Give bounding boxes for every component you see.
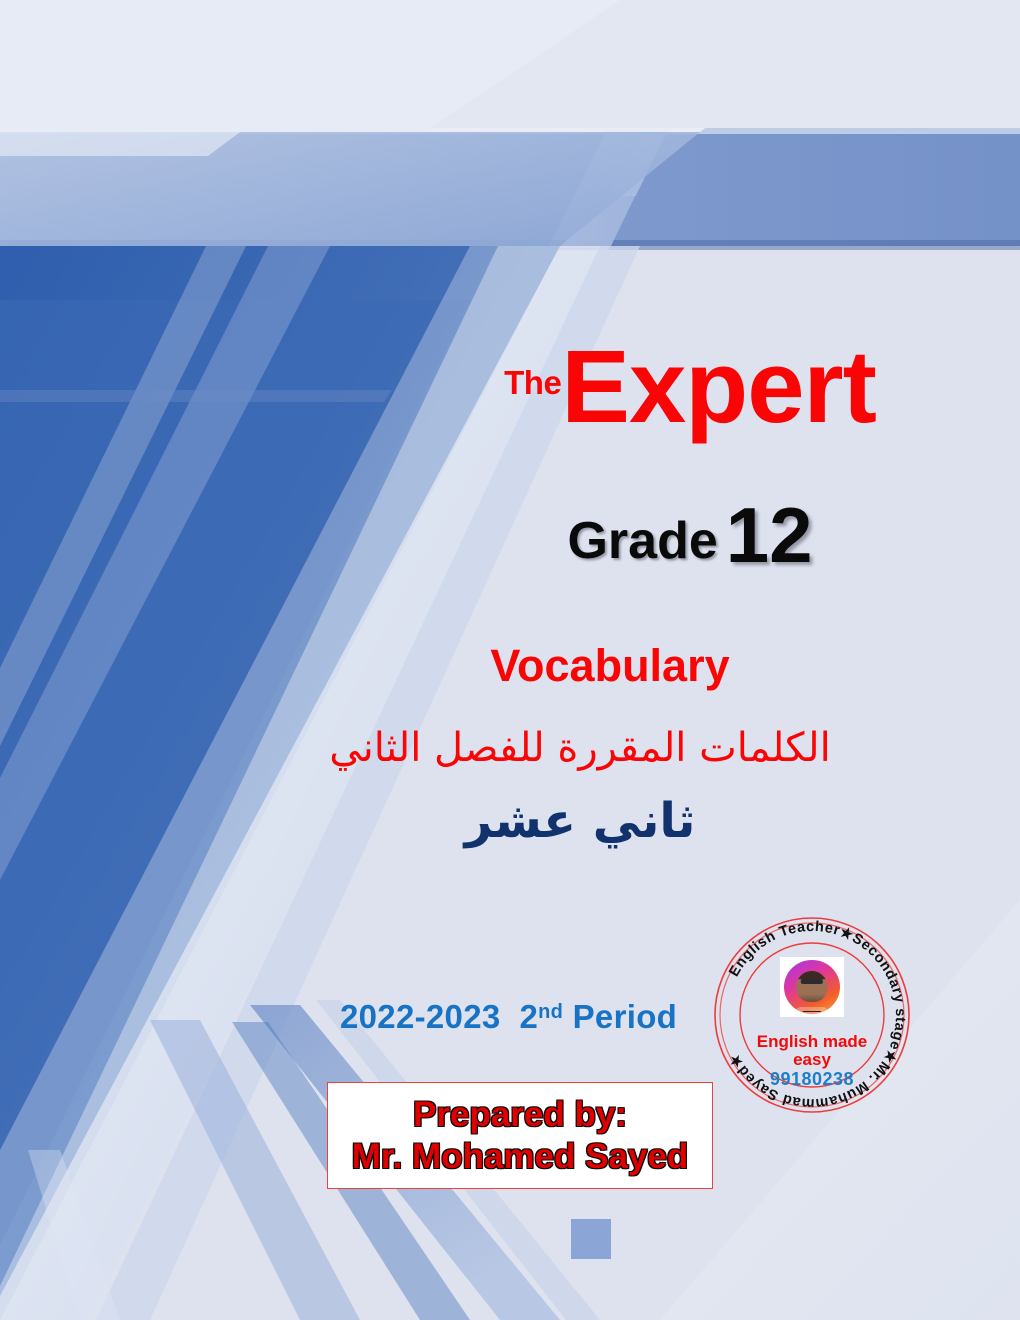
prepared-by-name: Mr. Mohamed Sayed xyxy=(352,1137,688,1176)
avatar xyxy=(780,957,844,1017)
period-number: 2 xyxy=(519,998,538,1035)
grade-line: Grade12 xyxy=(430,490,950,581)
teacher-photo xyxy=(784,960,840,1014)
cover-content: TheExpert Grade12 Vocabulary الكلمات الم… xyxy=(0,0,1020,1320)
title-main: Expert xyxy=(561,329,876,444)
stamp-slogan: English made easy xyxy=(712,1033,912,1069)
accent-square xyxy=(571,1219,611,1259)
title-prefix: The xyxy=(504,364,561,401)
grade-label: Grade xyxy=(567,512,717,570)
page-title: TheExpert xyxy=(430,335,950,438)
period-ordinal: nd xyxy=(538,1001,563,1023)
academic-year: 2022-2023 xyxy=(340,998,501,1035)
grade-number: 12 xyxy=(726,491,813,579)
period-word: Period xyxy=(573,998,678,1035)
cover-page: TheExpert Grade12 Vocabulary الكلمات الم… xyxy=(0,0,1020,1320)
teacher-seal-stamp: English Teacher★Secondary stage★Mr. Muha… xyxy=(712,915,912,1115)
stamp-phone-number: 99180238 xyxy=(712,1069,912,1090)
subject-title: Vocabulary xyxy=(370,640,850,692)
arabic-subtitle: الكلمات المقررة للفصل الثاني xyxy=(300,723,860,773)
stamp-slogan-line1: English made xyxy=(712,1033,912,1051)
arabic-grade-label: ثاني عشر xyxy=(300,790,860,852)
prepared-by-label: Prepared by: xyxy=(413,1095,627,1134)
prepared-by-box: Prepared by: Mr. Mohamed Sayed xyxy=(327,1082,713,1189)
stamp-slogan-line2: easy xyxy=(712,1051,912,1069)
academic-period: 2022-2023 2nd Period xyxy=(340,998,677,1036)
